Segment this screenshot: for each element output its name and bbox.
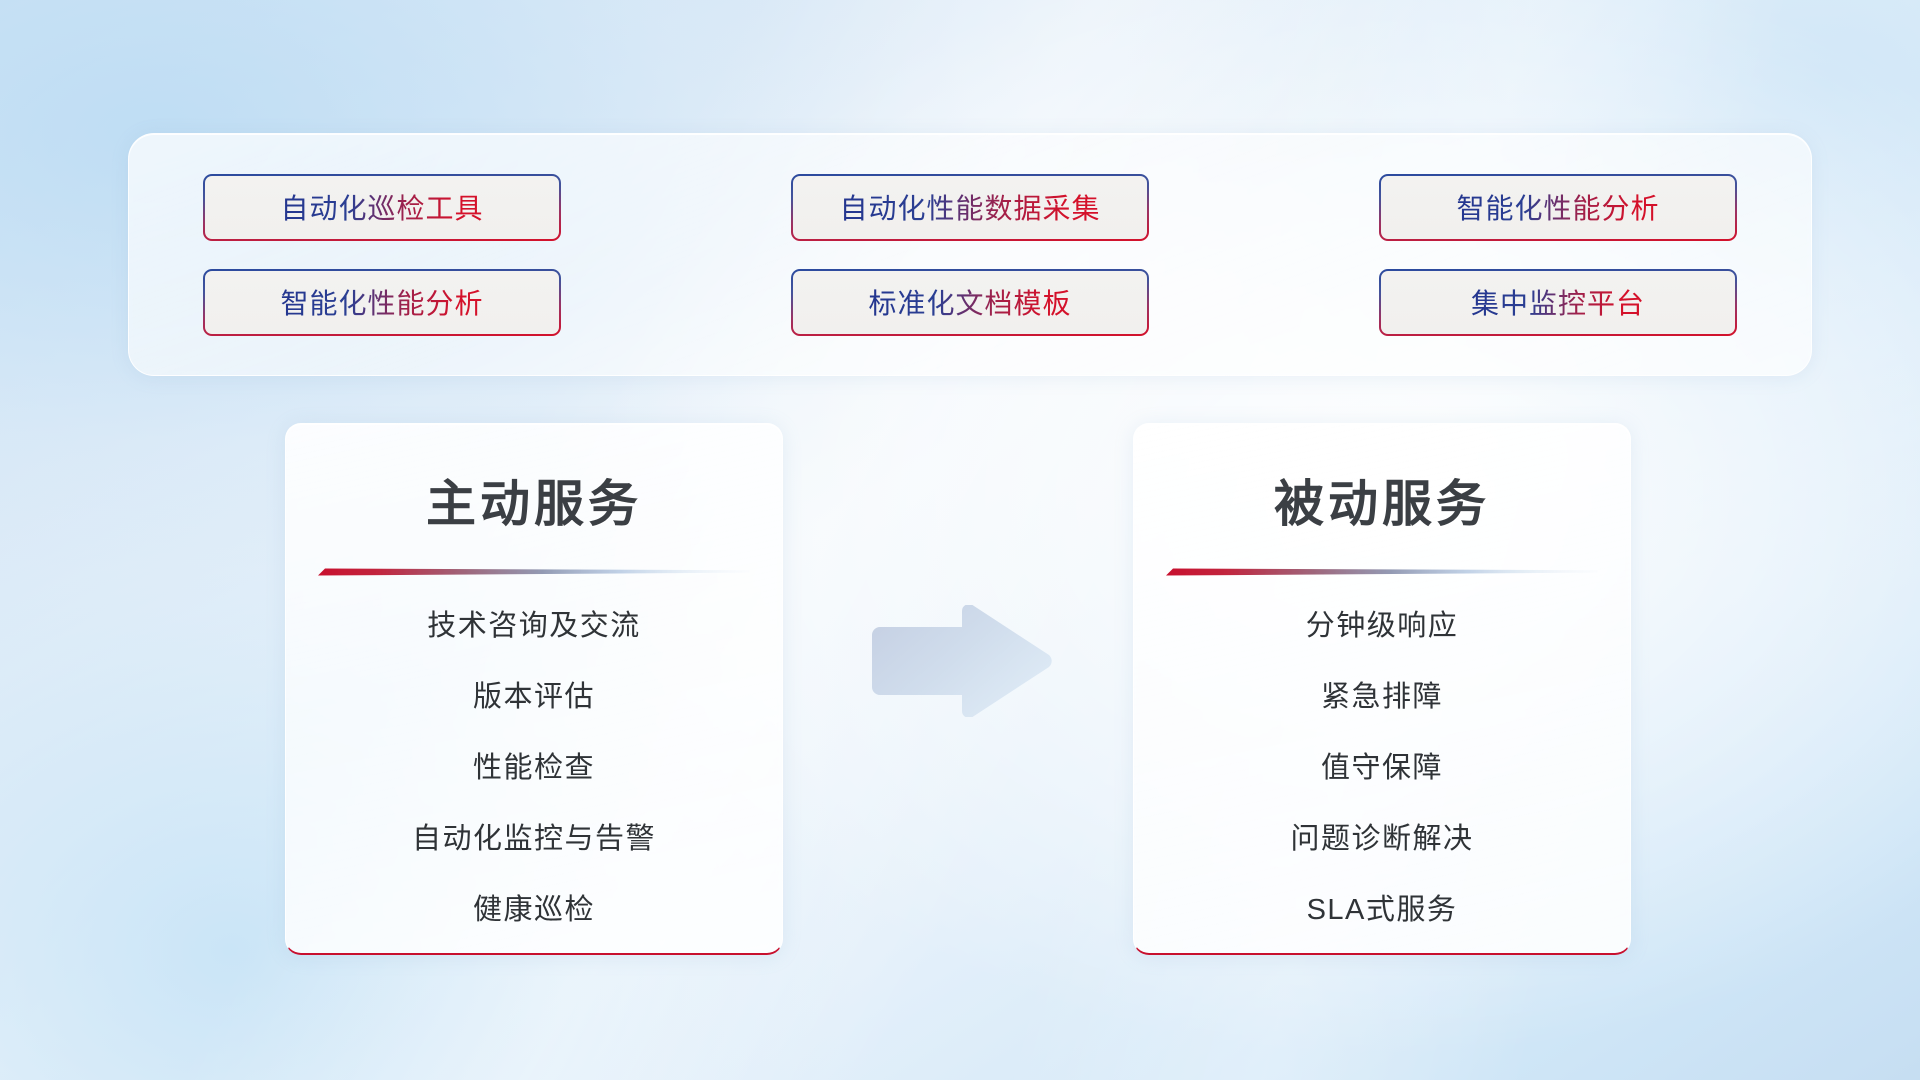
capability-tag-label: 集中监控平台 xyxy=(1471,282,1645,322)
service-item: 值守保障 xyxy=(1321,744,1443,786)
service-item: SLA式服务 xyxy=(1307,886,1458,928)
capability-tag-label: 自动化性能数据采集 xyxy=(839,187,1100,227)
capability-tag-label: 智能化性能分析 xyxy=(1456,187,1659,227)
capability-row-1: 自动化巡检工具 自动化性能数据采集 智能化性能分析 xyxy=(203,174,1737,241)
service-item-list: 技术咨询及交流 版本评估 性能检查 自动化监控与告警 健康巡检 xyxy=(286,602,782,928)
service-card-proactive: 主动服务 技术咨询及交流 版本评估 性能检查 自动化监控与告警 健康巡检 xyxy=(285,423,783,955)
card-title: 被动服务 xyxy=(1134,464,1630,536)
diagram-canvas: 自动化巡检工具 自动化性能数据采集 智能化性能分析 智能化性能分析 标准化文档模… xyxy=(0,0,1920,1080)
service-item: 版本评估 xyxy=(473,673,595,715)
capability-tag[interactable]: 集中监控平台 xyxy=(1379,269,1737,336)
service-item: 紧急排障 xyxy=(1321,673,1443,715)
title-divider xyxy=(318,566,750,578)
capability-tag-label: 自动化巡检工具 xyxy=(280,187,483,227)
capability-row-2: 智能化性能分析 标准化文档模板 集中监控平台 xyxy=(203,269,1737,336)
capability-tag-label: 标准化文档模板 xyxy=(868,282,1071,322)
service-item: 健康巡检 xyxy=(473,886,595,928)
service-item-list: 分钟级响应 紧急排障 值守保障 问题诊断解决 SLA式服务 xyxy=(1134,602,1630,928)
service-item: 分钟级响应 xyxy=(1306,602,1459,644)
capability-tag[interactable]: 自动化性能数据采集 xyxy=(791,174,1149,241)
service-item: 技术咨询及交流 xyxy=(427,602,641,644)
service-item: 性能检查 xyxy=(473,744,595,786)
card-title: 主动服务 xyxy=(286,464,782,536)
capability-tag-label: 智能化性能分析 xyxy=(280,282,483,322)
right-arrow-icon xyxy=(866,605,1054,717)
title-divider xyxy=(1166,566,1598,578)
service-card-reactive: 被动服务 分钟级响应 紧急排障 值守保障 问题诊断解决 SLA式服务 xyxy=(1133,423,1631,955)
capability-tag[interactable]: 智能化性能分析 xyxy=(203,269,561,336)
capability-tag[interactable]: 标准化文档模板 xyxy=(791,269,1149,336)
capability-tag[interactable]: 智能化性能分析 xyxy=(1379,174,1737,241)
service-item: 自动化监控与告警 xyxy=(412,815,656,857)
capability-panel: 自动化巡检工具 自动化性能数据采集 智能化性能分析 智能化性能分析 标准化文档模… xyxy=(128,133,1812,376)
service-item: 问题诊断解决 xyxy=(1290,815,1473,857)
capability-tag[interactable]: 自动化巡检工具 xyxy=(203,174,561,241)
